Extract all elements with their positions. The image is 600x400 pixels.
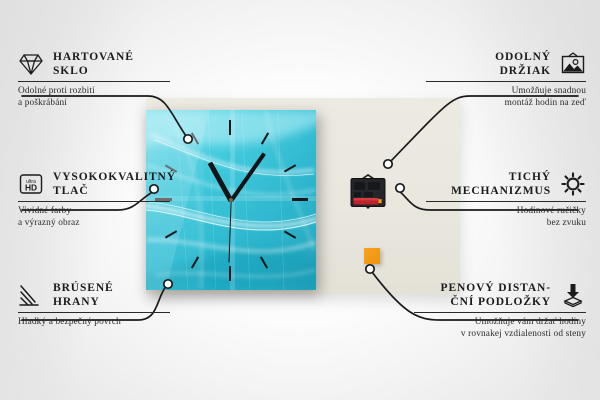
feature-holder-title: ODOLNÝ DRŽIAK [495, 50, 551, 78]
feature-print-desc: Vividné farby a výrazný obraz [18, 206, 170, 229]
infographic-canvas: HARTOVANÉ SKLO Odolné proti rozbití a po… [0, 0, 600, 400]
feature-edges: BRÚSENÉ HRANY Hladký a bezpečný povrch [18, 281, 170, 329]
marker-glass [184, 135, 192, 143]
gear-icon [560, 171, 586, 197]
feature-holder-desc: Umožňuje snadnou montáž hodin na zeď [426, 86, 586, 109]
feature-holder-head: ODOLNÝ DRŽIAK [426, 50, 586, 78]
feature-glass-rule [18, 81, 170, 82]
feature-glass-head: HARTOVANÉ SKLO [18, 50, 170, 78]
feature-edges-head: BRÚSENÉ HRANY [18, 281, 170, 309]
feature-print-title: VYSOKOKVALITNÝ TLAČ [53, 170, 176, 198]
marker-holder [384, 160, 392, 168]
marker-foam [366, 265, 374, 273]
feature-foam-desc: Umožňuje vám držať hodiny v rovnakej vzd… [414, 317, 586, 340]
feature-holder: ODOLNÝ DRŽIAK Umožňuje snadnou montáž ho… [426, 50, 586, 109]
feature-mechanism-rule [426, 201, 586, 202]
feature-glass-desc: Odolné proti rozbití a poškrábání [18, 86, 170, 109]
foam-spacer-icon [560, 282, 586, 308]
feature-print: ultra HD VYSOKOKVALITNÝ TLAČ Vividné far… [18, 170, 170, 229]
feature-edges-title: BRÚSENÉ HRANY [53, 281, 114, 309]
feature-glass: HARTOVANÉ SKLO Odolné proti rozbití a po… [18, 50, 170, 109]
feature-glass-title: HARTOVANÉ SKLO [53, 50, 134, 78]
picture-hanger-icon [560, 51, 586, 77]
feature-mechanism-head: TICHÝ MECHANIZMUS [426, 170, 586, 198]
feature-edges-rule [18, 312, 170, 313]
polished-edges-icon [18, 282, 44, 308]
marker-mechanism [396, 184, 404, 192]
feature-edges-desc: Hladký a bezpečný povrch [18, 317, 170, 329]
ultra-hd-badge-icon: ultra HD [18, 171, 44, 197]
feature-foam: PENOVÝ DISTAN- ČNÍ PODLOŽKY Umožňuje vám… [414, 281, 586, 340]
feature-holder-rule [426, 81, 586, 82]
feature-print-rule [18, 201, 170, 202]
feature-foam-title: PENOVÝ DISTAN- ČNÍ PODLOŽKY [441, 281, 551, 309]
feature-mechanism-title: TICHÝ MECHANIZMUS [451, 170, 551, 198]
feature-foam-head: PENOVÝ DISTAN- ČNÍ PODLOŽKY [414, 281, 586, 309]
feature-mechanism-desc: Hodinové ručičky bez zvuku [426, 206, 586, 229]
feature-foam-rule [414, 312, 586, 313]
diamond-icon [18, 51, 44, 77]
svg-text:HD: HD [25, 183, 37, 193]
feature-mechanism: TICHÝ MECHANIZMUS Hodinové ručičky bez z… [426, 170, 586, 229]
feature-print-head: ultra HD VYSOKOKVALITNÝ TLAČ [18, 170, 170, 198]
